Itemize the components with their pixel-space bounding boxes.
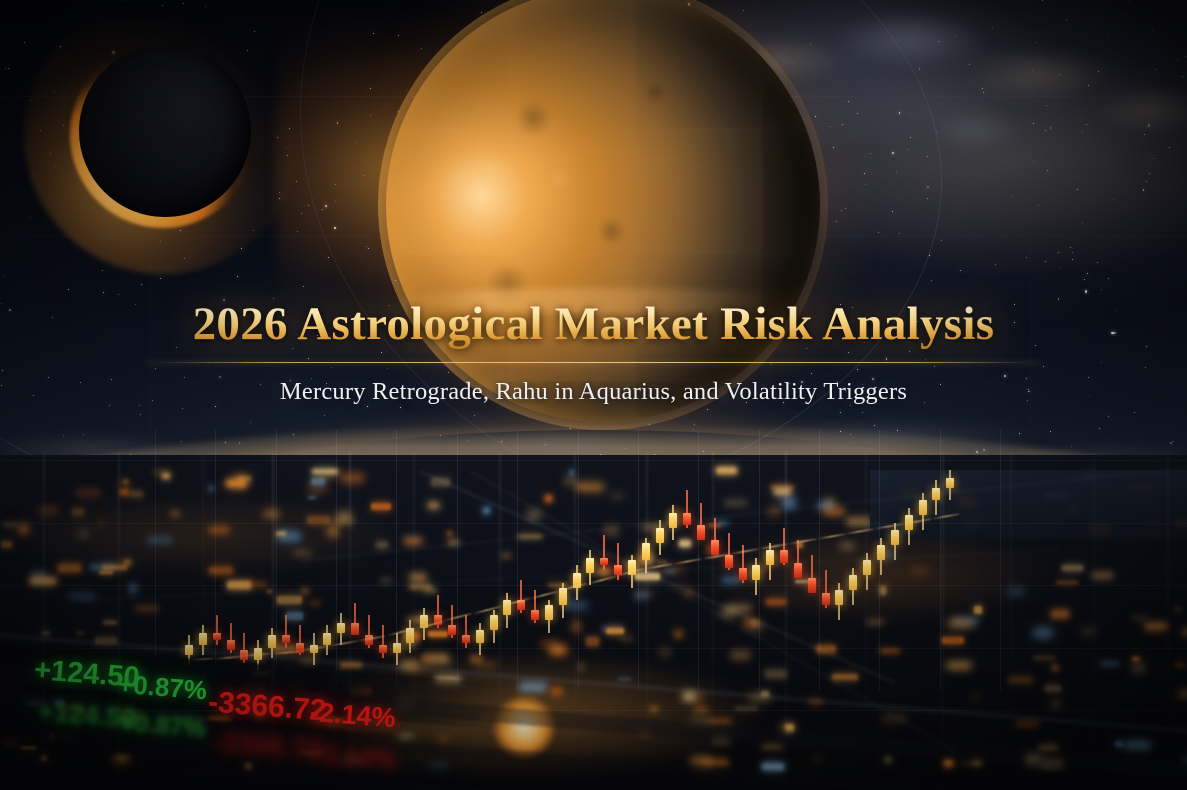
title-block: 2026 Astrological Market Risk Analysis M… <box>0 300 1187 406</box>
candle <box>932 480 940 515</box>
title-divider <box>147 362 1040 363</box>
ticker-percent-down: -2.14% <box>309 697 397 734</box>
eclipse-disc <box>79 45 251 217</box>
candle <box>919 493 927 531</box>
eclipsed-moon-icon <box>70 42 256 228</box>
candle <box>365 615 373 648</box>
candle <box>351 603 359 636</box>
candle <box>656 520 664 555</box>
candle <box>393 633 401 666</box>
candle <box>891 523 899 561</box>
poster-canvas: 2026 Astrological Market Risk Analysis M… <box>0 0 1187 790</box>
candle <box>227 623 235 653</box>
candle <box>462 615 470 648</box>
candle <box>490 610 498 643</box>
candle <box>323 625 331 655</box>
ticker-reflection-percent-down: -3.14% <box>313 739 398 776</box>
candle <box>752 558 760 596</box>
candle <box>337 613 345 646</box>
candle <box>780 528 788 566</box>
candle <box>379 625 387 658</box>
candle <box>669 505 677 540</box>
candle <box>877 538 885 576</box>
candle <box>808 555 816 593</box>
candle <box>476 623 484 656</box>
candle <box>822 570 830 608</box>
candle <box>517 580 525 613</box>
candle <box>711 518 719 556</box>
candle <box>725 533 733 571</box>
candle <box>905 508 913 546</box>
candle <box>683 490 691 528</box>
candle <box>794 540 802 578</box>
page-title: 2026 Astrological Market Risk Analysis <box>0 300 1187 349</box>
candle <box>503 593 511 628</box>
candle <box>849 568 857 606</box>
candle <box>213 615 221 645</box>
candle <box>697 503 705 541</box>
candle <box>863 553 871 591</box>
candle <box>406 620 414 653</box>
candle <box>586 550 594 585</box>
candle <box>199 625 207 655</box>
candle <box>946 470 954 500</box>
candle <box>240 633 248 663</box>
candle <box>835 583 843 621</box>
candle <box>573 565 581 600</box>
candle <box>448 605 456 638</box>
page-subtitle: Mercury Retrograde, Rahu in Aquarius, an… <box>0 378 1187 406</box>
candle <box>282 615 290 648</box>
candle <box>545 600 553 633</box>
candle <box>600 535 608 570</box>
